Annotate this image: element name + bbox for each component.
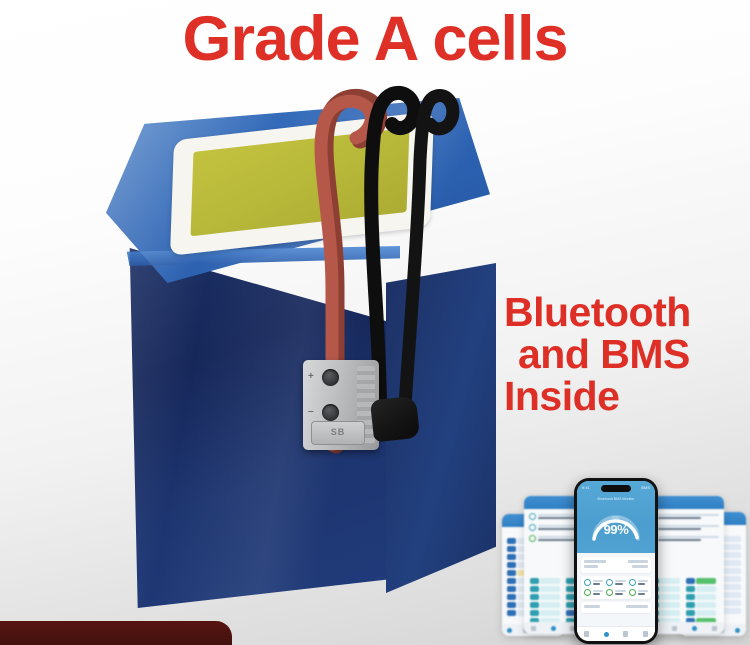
metric-cell <box>584 589 603 596</box>
cell-bar-row <box>686 594 716 600</box>
cell-bar-row <box>686 578 716 584</box>
detail-card <box>581 602 651 613</box>
cell-bar-row <box>686 602 716 608</box>
metric-cell <box>629 589 648 596</box>
summary-row <box>584 560 648 563</box>
summary-row <box>584 565 648 568</box>
phone-tab-bar <box>577 626 655 641</box>
connector-negative-mark: – <box>308 407 314 417</box>
metric-cell <box>629 579 648 586</box>
metric-row <box>649 535 719 542</box>
connector-positive-mark: + <box>308 372 314 382</box>
status-time: 9:41 <box>582 485 590 490</box>
metrics-grid <box>584 579 648 596</box>
cell-bar-row <box>530 602 560 608</box>
page-title: Grade A cells <box>0 6 750 73</box>
feature-callout: Bluetooth and BMS Inside <box>504 292 750 417</box>
metric-cell <box>606 589 625 596</box>
metric-row <box>649 524 719 531</box>
phone-screen: 9:41 BMS Bluetooth BMS Monitor SOC 99% <box>577 481 655 641</box>
maroon-banner-bar <box>0 621 232 645</box>
app-subtitle: Bluetooth BMS Monitor <box>577 497 655 502</box>
state-of-charge-gauge: SOC 99% <box>590 511 642 541</box>
feature-callout-line-3: Inside <box>504 376 750 418</box>
cell-bar-row <box>530 594 560 600</box>
battery-percent-value: 99% <box>590 523 642 536</box>
tab-settings-icon <box>623 631 628 637</box>
summary-card <box>581 557 651 573</box>
metrics-card <box>581 576 651 599</box>
tab-home-icon <box>584 631 589 637</box>
promo-image-canvas: Grade A cells + – SB Bluetooth and BMS I… <box>0 0 750 645</box>
cell-bar-row <box>530 610 560 616</box>
anderson-connector: + – SB <box>303 360 379 450</box>
tab-profile-icon <box>643 631 648 637</box>
cell-bar-list <box>686 578 716 624</box>
battery-pack <box>96 98 500 610</box>
cell-bar-row <box>686 586 716 592</box>
cell-bar-row <box>530 586 560 592</box>
metric-cell <box>584 579 603 586</box>
gauge-caption: SOC <box>590 516 642 520</box>
cell-bar-row <box>686 610 716 616</box>
connector-pin-hole-negative <box>322 404 339 421</box>
cell-bar-list <box>530 578 560 624</box>
detail-row <box>584 605 648 608</box>
connector-brand-badge: SB <box>311 421 365 445</box>
status-label: BMS <box>641 485 650 490</box>
cell-bar-row <box>530 578 560 584</box>
feature-callout-line-2: and BMS <box>504 334 750 376</box>
tab-battery-icon <box>604 632 609 637</box>
app-header: 9:41 BMS Bluetooth BMS Monitor SOC 99% <box>577 481 655 553</box>
metric-cell <box>606 579 625 586</box>
feature-callout-line-1: Bluetooth <box>504 292 750 334</box>
phone-mockup: 9:41 BMS Bluetooth BMS Monitor SOC 99% <box>574 478 658 644</box>
metric-row <box>649 513 719 520</box>
phone-notch <box>601 485 631 492</box>
app-screenshot-cluster: 9:41 BMS Bluetooth BMS Monitor SOC 99% <box>498 470 750 645</box>
cable-strain-relief-boot <box>370 396 420 443</box>
connector-pin-hole-positive <box>322 369 339 386</box>
